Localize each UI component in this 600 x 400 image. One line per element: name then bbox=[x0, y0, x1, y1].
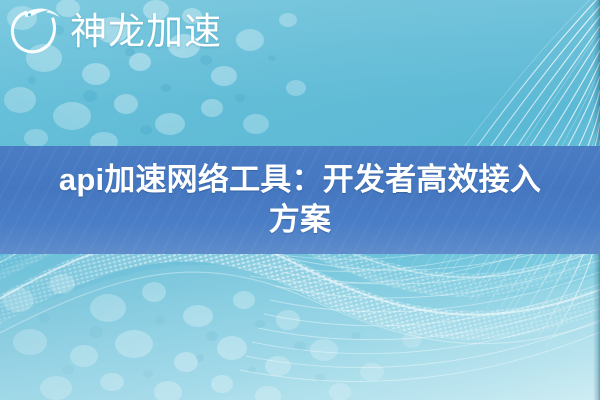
title-band: api加速网络工具：开发者高效接入 方案 bbox=[0, 146, 600, 254]
promo-banner: 神龙加速 api加速网络工具：开发者高效接入 方案 bbox=[0, 0, 600, 400]
page-title: api加速网络工具：开发者高效接入 方案 bbox=[20, 160, 580, 239]
page-title-line-1: api加速网络工具：开发者高效接入 bbox=[59, 162, 541, 197]
dragon-swoosh-circle-icon bbox=[8, 3, 64, 59]
page-title-line-2: 方案 bbox=[269, 202, 331, 237]
brand-lockup: 神龙加速 bbox=[8, 3, 222, 59]
brand-name: 神龙加速 bbox=[70, 13, 222, 50]
